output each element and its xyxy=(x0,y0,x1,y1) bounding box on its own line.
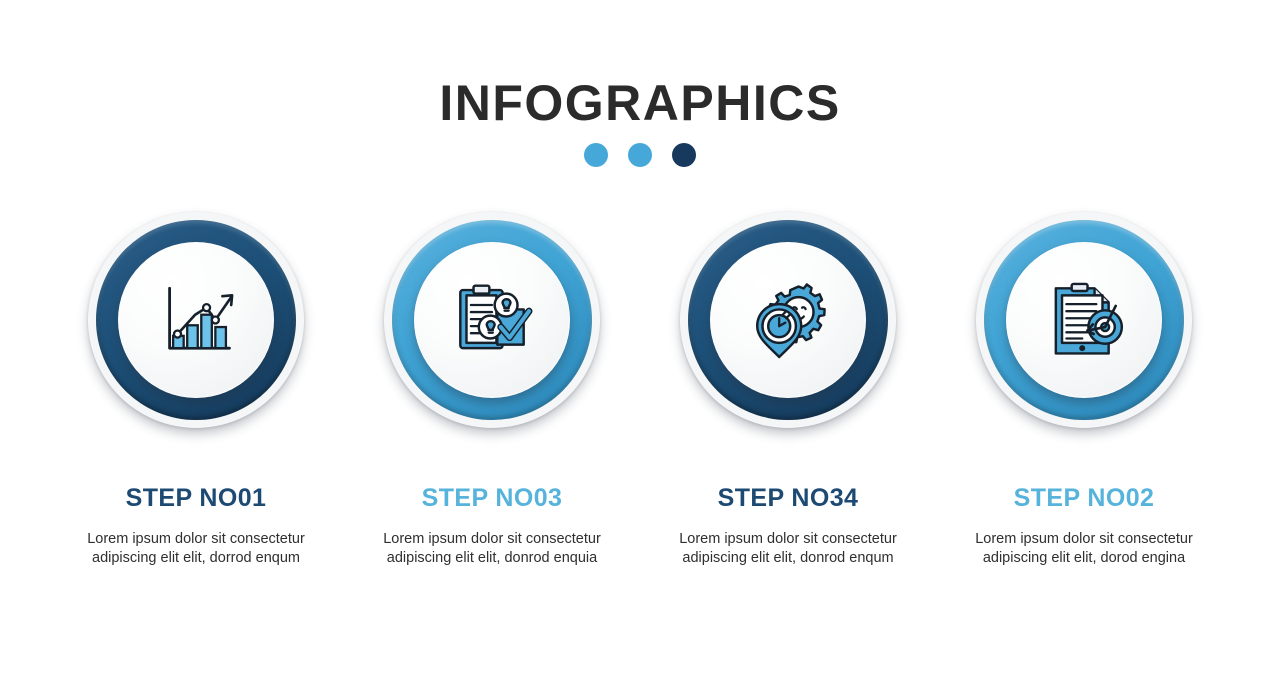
gear-stopwatch-icon xyxy=(744,276,832,364)
step-description-1: Lorem ipsum dolor sit consectetur adipis… xyxy=(81,530,311,569)
step-label-2: STEP NO03 xyxy=(422,486,563,511)
badge-face-4 xyxy=(1007,243,1161,397)
step-badge-3[interactable] xyxy=(680,212,896,428)
step-label-4: STEP NO02 xyxy=(1014,486,1155,511)
badge-face-1 xyxy=(119,243,273,397)
step-badge-4[interactable] xyxy=(976,212,1192,428)
dot-3 xyxy=(672,143,696,167)
header: INFOGRAPHICS xyxy=(0,78,1280,167)
step-item-4[interactable]: STEP NO02 Lorem ipsum dolor sit consecte… xyxy=(936,212,1232,569)
step-description-2: Lorem ipsum dolor sit consectetur adipis… xyxy=(377,530,607,569)
document-target-icon xyxy=(1040,276,1128,364)
growth-bar-chart-icon xyxy=(152,276,240,364)
page-title: INFOGRAPHICS xyxy=(0,78,1280,128)
infographic-page: INFOGRAPHICS xyxy=(0,0,1280,698)
dot-2 xyxy=(628,143,652,167)
step-description-4: Lorem ipsum dolor sit consectetur adipis… xyxy=(969,530,1199,569)
step-item-1[interactable]: STEP NO01 Lorem ipsum dolor sit consecte… xyxy=(48,212,344,569)
step-badge-1[interactable] xyxy=(88,212,304,428)
step-description-3: Lorem ipsum dolor sit consectetur adipis… xyxy=(673,530,903,569)
step-label-1: STEP NO01 xyxy=(126,486,267,511)
step-badge-2[interactable] xyxy=(384,212,600,428)
title-dot-group xyxy=(0,143,1280,167)
badge-face-2 xyxy=(415,243,569,397)
badge-face-3 xyxy=(711,243,865,397)
step-item-3[interactable]: STEP NO34 Lorem ipsum dolor sit consecte… xyxy=(640,212,936,569)
step-label-3: STEP NO34 xyxy=(718,486,859,511)
steps-row: STEP NO01 Lorem ipsum dolor sit consecte… xyxy=(0,212,1280,569)
dot-1 xyxy=(584,143,608,167)
step-item-2[interactable]: STEP NO03 Lorem ipsum dolor sit consecte… xyxy=(344,212,640,569)
clipboard-idea-check-icon xyxy=(448,276,536,364)
